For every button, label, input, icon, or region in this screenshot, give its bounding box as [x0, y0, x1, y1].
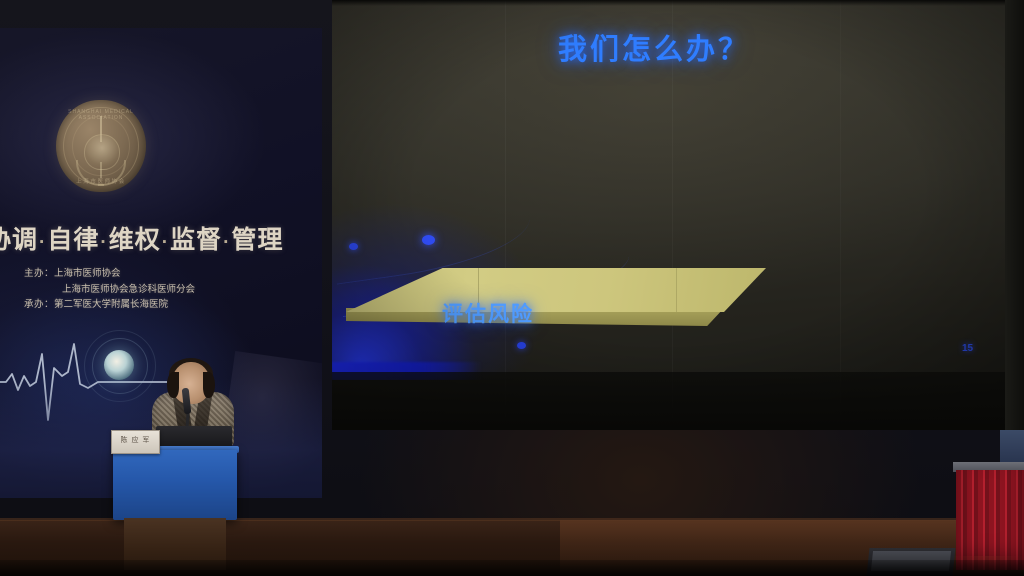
- host-line: 承办：第二军医大学附属长海医院: [24, 297, 294, 313]
- host-name: 第二军医大学附属长海医院: [54, 299, 168, 310]
- slogan-char-8: 管: [231, 226, 257, 254]
- screen-vignette: [332, 0, 1005, 420]
- organizer-line: 主办：上海市医师协会: [24, 266, 294, 282]
- slogan-char-5: 权: [135, 226, 161, 254]
- glowing-orb-icon: [104, 350, 134, 380]
- slogan-sep-2: ·: [99, 232, 108, 253]
- host-label: 承办：: [24, 299, 54, 310]
- presenter-laptop[interactable]: [156, 426, 232, 448]
- association-emblem-icon: SHANGHAI MEDICAL ASSOCIATION 上海市医师协会: [56, 100, 146, 192]
- foreground-shadow: [0, 560, 1024, 576]
- speaker-hair-left: [167, 372, 179, 398]
- conference-hall-screenshot: SHANGHAI MEDICAL ASSOCIATION 上海市医师协会 协调·…: [0, 0, 1024, 576]
- organizer-name-1: 上海市医师协会: [54, 268, 121, 279]
- speaker-hair-right: [203, 372, 215, 398]
- banner-organizer-block: 主办：上海市医师协会 上海市医师协会急诊科医师分会 承办：第二军医大学附属长海医…: [24, 266, 294, 313]
- speaker-name-text: 陈 应 军: [112, 435, 159, 445]
- hall-side-wall: [1004, 0, 1024, 430]
- slogan-char-7: 督: [196, 226, 222, 254]
- slogan-char-0: 协: [0, 226, 12, 254]
- emblem-bottom-text: 上海市医师协会: [56, 177, 146, 185]
- organizer-label: 主办：: [24, 268, 54, 279]
- slogan-char-6: 监: [170, 226, 196, 254]
- slogan-sep-3: ·: [161, 232, 170, 253]
- speaker-name-card: 陈 应 军: [111, 430, 160, 454]
- slogan-sep-1: ·: [38, 232, 47, 253]
- slogan-char-3: 律: [73, 226, 99, 254]
- slogan-char-9: 理: [257, 226, 283, 254]
- organizer-name-2: 上海市医师协会急诊科医师分会: [24, 282, 294, 298]
- banner-slogan: 协调·自律·维权·监督·管理: [0, 220, 286, 256]
- slogan-char-2: 自: [47, 226, 73, 254]
- screen-lower-shadow: [332, 372, 1005, 430]
- slogan-char-1: 调: [12, 226, 38, 254]
- speaker-podium: [113, 450, 237, 520]
- red-table-skirt: [956, 470, 1024, 570]
- slogan-char-4: 维: [109, 226, 135, 254]
